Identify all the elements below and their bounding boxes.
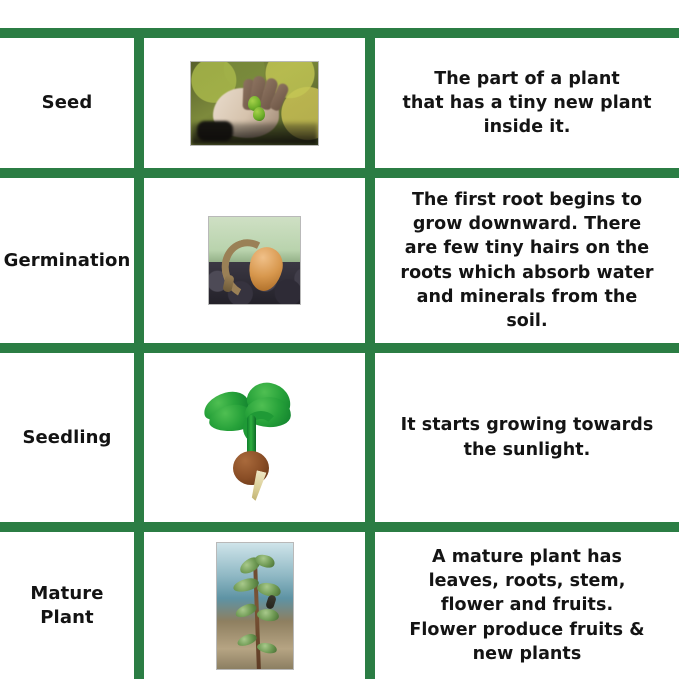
stage-label: Seedling [22,426,111,450]
germinating-seed-photo [208,216,301,305]
stage-image-cell-seed [144,38,365,168]
table-row: Germination The first root begins to gro… [0,178,679,343]
column-divider [365,353,375,522]
stage-description: The first root begins to grow downward. … [400,188,653,333]
stage-description: It starts growing towards the sunlight. [401,413,654,461]
table-row: Seed The part of a plant that has [0,38,679,168]
table-top-border [0,28,679,38]
column-divider [134,532,144,679]
stage-description-cell-seed: The part of a plant that has a tiny new … [375,38,679,168]
plant-leaf-shape [256,607,280,623]
stage-name-cell-seed: Seed [0,38,134,168]
stage-description-cell-germination: The first root begins to grow downward. … [375,178,679,343]
column-divider [365,38,375,168]
stage-name-cell-germination: Germination [0,178,134,343]
table-row: Mature Plant A mature [0,532,679,679]
life-cycle-table: Seed The part of a plant that has [0,28,679,679]
green-seed-shape [253,107,265,121]
column-divider [134,353,144,522]
flower-bud-shape [265,594,277,610]
stage-description: A mature plant has leaves, roots, stem, … [409,545,644,666]
stage-label: Mature Plant [30,582,103,630]
stage-label: Germination [4,249,131,273]
stage-description: The part of a plant that has a tiny new … [402,67,651,139]
seedling-sprout-illustration [195,375,315,501]
mature-plant-photo [216,542,294,670]
table-row: Seedling It starts growing towards the s… [0,353,679,522]
photo-shadow [191,123,318,145]
stage-name-cell-seedling: Seedling [0,353,134,522]
stage-image-cell-seedling [144,353,365,522]
column-divider [365,532,375,679]
hand-holding-seeds-photo [190,61,319,146]
stage-label: Seed [42,91,93,115]
column-divider [134,178,144,343]
stage-description-cell-seedling: It starts growing towards the sunlight. [375,353,679,522]
stage-image-cell-germination [144,178,365,343]
stage-image-cell-mature-plant [144,532,365,679]
plant-life-cycle-table-page: Seed The part of a plant that has [0,0,679,679]
row-divider [0,343,679,353]
row-divider [0,522,679,532]
stage-description-cell-mature-plant: A mature plant has leaves, roots, stem, … [375,532,679,679]
plant-leaf-shape [235,632,257,648]
column-divider [134,38,144,168]
row-divider [0,168,679,178]
stage-name-cell-mature-plant: Mature Plant [0,532,134,679]
column-divider [365,178,375,343]
